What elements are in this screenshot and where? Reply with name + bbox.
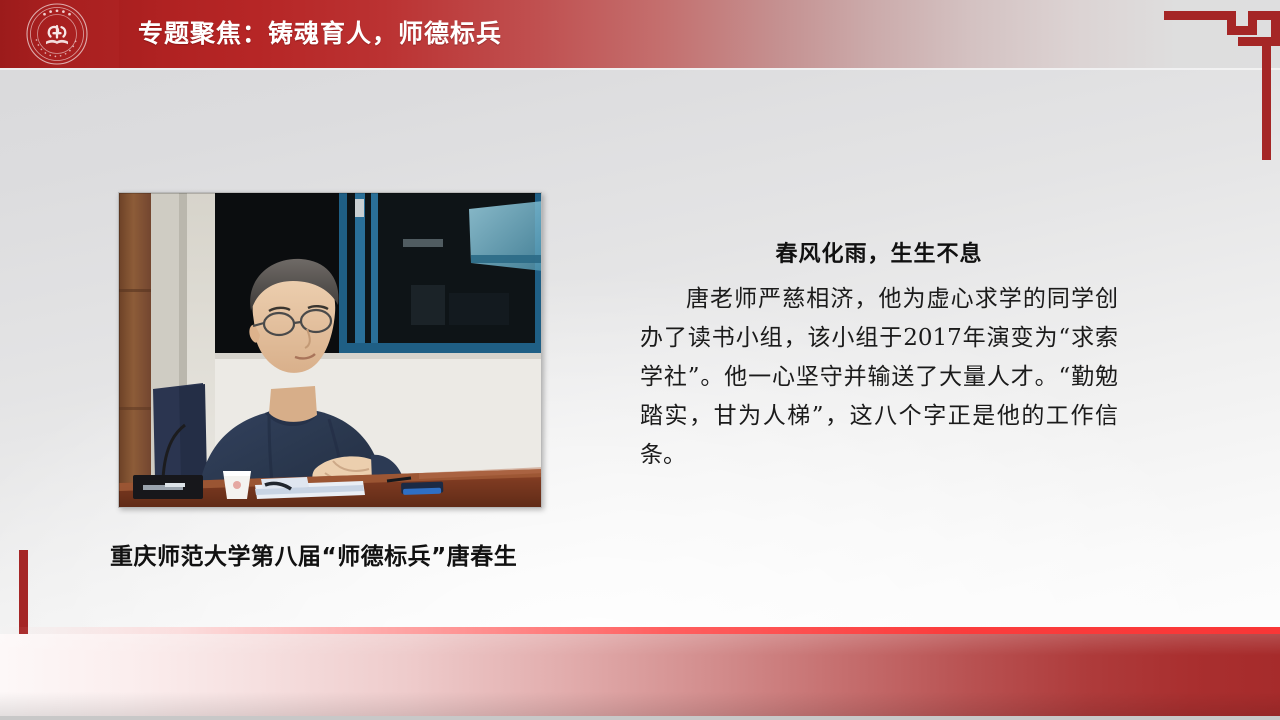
photo-caption: 重庆师范大学第八届“师德标兵”唐春生 xyxy=(110,537,580,571)
article-body: 唐老师严慈相济，他为虚心求学的同学创办了读书小组，该小组于2017年演变为“求索… xyxy=(640,280,1118,475)
presentation-slide: 专题聚焦：铸魂育人，师德标兵 xyxy=(0,0,1280,720)
speaker-photo xyxy=(118,192,542,508)
page-title: 专题聚焦：铸魂育人，师德标兵 xyxy=(138,14,502,54)
footer-accent-stripe xyxy=(0,627,1280,634)
speaker-photo-image xyxy=(119,193,541,507)
article-heading: 春风化雨，生生不息 xyxy=(640,240,1118,270)
footer-baseline xyxy=(0,716,1280,720)
university-seal-icon xyxy=(26,3,88,65)
article-panel: 春风化雨，生生不息 唐老师严慈相济，他为虚心求学的同学创办了读书小组，该小组于2… xyxy=(640,240,1118,475)
header-divider xyxy=(0,68,1280,70)
footer-band xyxy=(0,634,1280,716)
top-right-corner-ornament-icon xyxy=(1152,0,1280,160)
